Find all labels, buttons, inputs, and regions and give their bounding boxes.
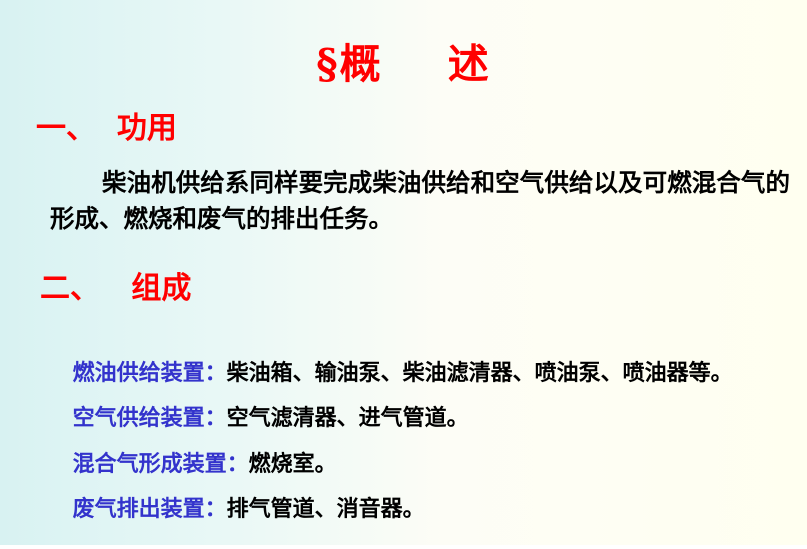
heading-purpose: 一、 功用 <box>36 103 177 147</box>
slide-title: §概 述 <box>0 30 807 90</box>
heading-composition: 二、 组成 <box>40 263 191 307</box>
list-item-label: 废气排出装置： <box>73 496 227 522</box>
list-item-value: 排气管道、消音器。 <box>227 496 425 522</box>
slide-canvas: §概 述 一、 功用 柴油机供给系同样要完成柴油供给和空气供给以及可燃混合气的形… <box>0 0 807 545</box>
purpose-paragraph: 柴油机供给系同样要完成柴油供给和空气供给以及可燃混合气的形成、燃烧和废气的排出任… <box>50 165 790 236</box>
list-item: 废气排出装置：排气管道、消音器。 <box>42 465 425 549</box>
